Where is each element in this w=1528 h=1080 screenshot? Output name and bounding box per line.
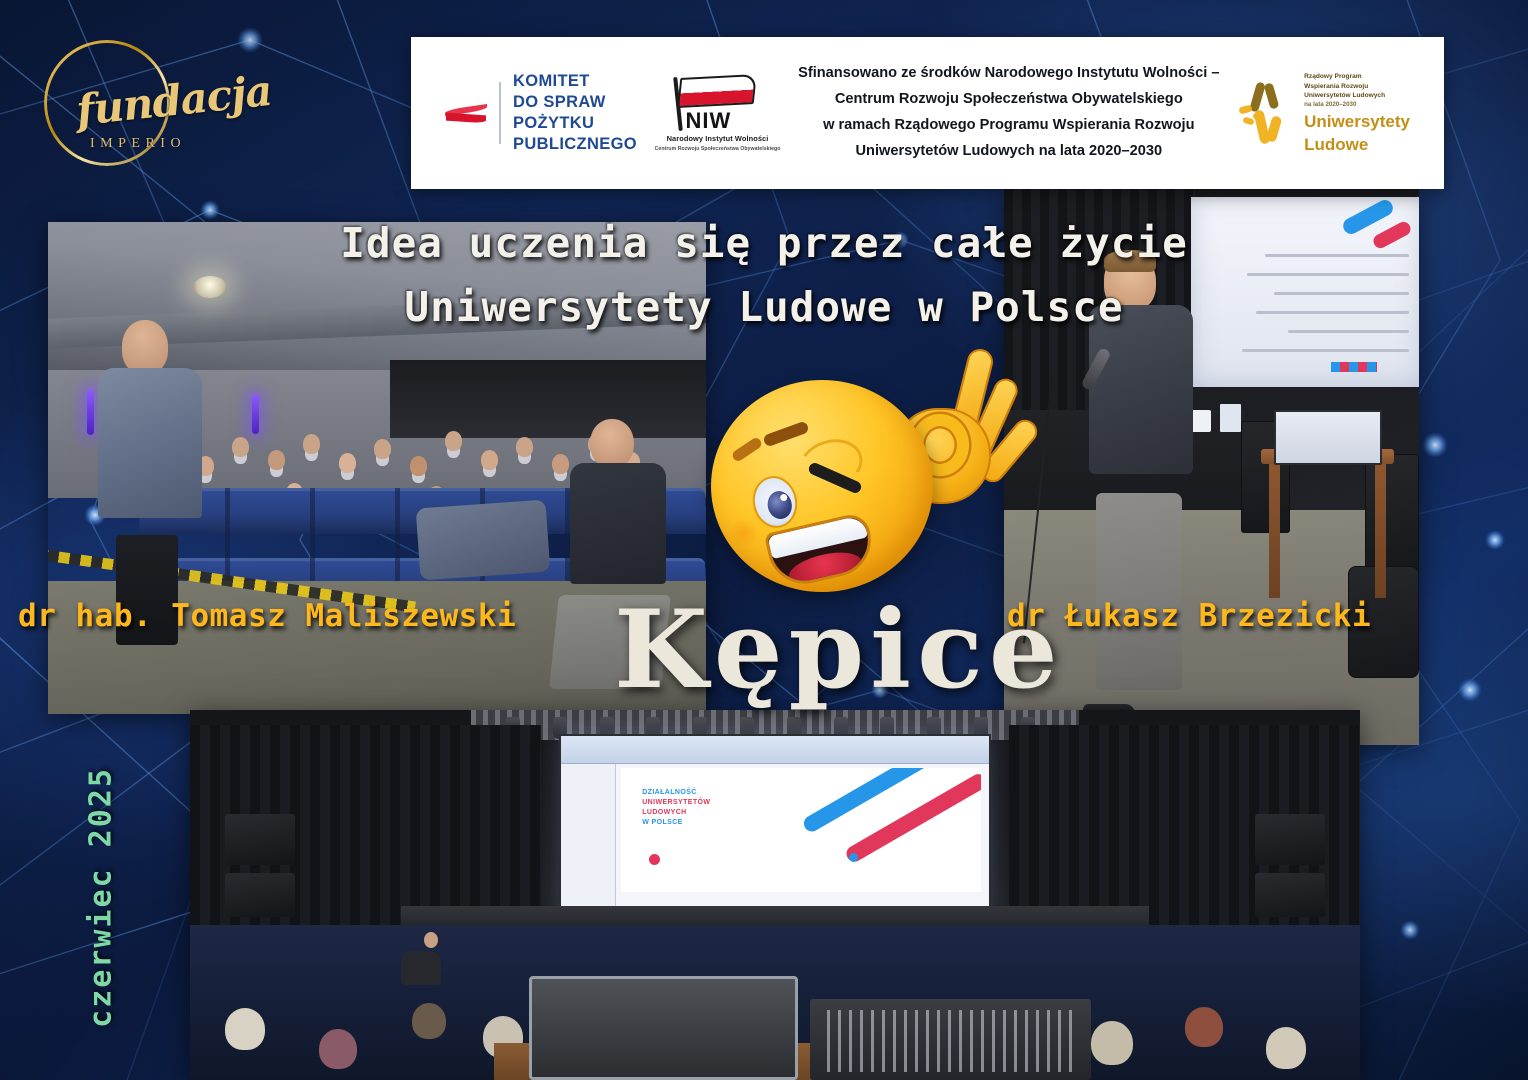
kpp-wordmark: KOMITET DO SPRAW POŻYTKU PUBLICZNEGO bbox=[513, 71, 637, 155]
ul-big2: Ludowe bbox=[1304, 135, 1410, 154]
logo-uniwersytety-ludowe: Rządowy Program Wspierania Rozwoju Uniwe… bbox=[1237, 72, 1410, 153]
caption-speaker-left: dr hab. Tomasz Maliszewski bbox=[18, 598, 516, 634]
niw-subtitle-2: Centrum Rozwoju Społeczeństwa Obywatelsk… bbox=[655, 146, 781, 152]
slide-title-line1: DZIAŁALNOŚĆ bbox=[642, 788, 710, 798]
eyebrow bbox=[731, 436, 764, 463]
slide-red-shape bbox=[1371, 219, 1413, 250]
photo-right-scene bbox=[1004, 186, 1419, 745]
kpp-line3: POŻYTKU bbox=[513, 113, 637, 134]
funding-line4: Uniwersytetów Ludowych na lata 2020–2030 bbox=[798, 139, 1219, 165]
presentation-screen: DZIAŁALNOŚĆ UNIWERSYTETÓW LUDOWYCH W POL… bbox=[559, 734, 992, 915]
ul-top3: Uniwersytetów Ludowych bbox=[1304, 91, 1410, 100]
slide-red-dot bbox=[649, 854, 660, 865]
smiley-face bbox=[711, 380, 933, 592]
poster-canvas: fundacja IMPERIO bbox=[0, 0, 1528, 1080]
cheek-blush bbox=[725, 520, 761, 546]
pa-speaker-box bbox=[1255, 814, 1325, 866]
polish-flag-icon bbox=[445, 98, 487, 128]
photo-left-scene bbox=[48, 222, 706, 714]
eyebrow bbox=[762, 420, 809, 447]
logo-komitet-pozytku-publicznego: KOMITET DO SPRAW POŻYTKU PUBLICZNEGO bbox=[445, 71, 637, 155]
ul-big1: Uniwersytety bbox=[1304, 112, 1410, 131]
imperio-subtitle: IMPERIO bbox=[90, 136, 186, 152]
kpp-line1: KOMITET bbox=[513, 71, 637, 92]
flight-case bbox=[529, 976, 798, 1080]
photo-speaker-with-microphone bbox=[1004, 186, 1419, 745]
speaker-figure bbox=[1087, 253, 1195, 723]
ul-emblem-icon bbox=[1237, 82, 1295, 144]
photo-auditorium-audience bbox=[48, 222, 706, 714]
place-title-kepice: Kępice bbox=[614, 596, 1064, 704]
wooden-table bbox=[1261, 449, 1394, 583]
event-date-vertical: czerwiec 2025 bbox=[84, 753, 119, 1043]
standing-speaker-figure bbox=[94, 320, 212, 645]
ul-top2: Wspierania Rozwoju bbox=[1304, 82, 1410, 91]
slide-dot-row bbox=[1331, 362, 1377, 372]
powerpoint-slide-rail bbox=[561, 764, 617, 913]
open-eye bbox=[748, 472, 802, 532]
funding-line3: w ramach Rządowego Programu Wspierania R… bbox=[798, 113, 1219, 139]
winking-smiley-ok-gesture-icon bbox=[697, 352, 1037, 602]
funding-statement: Sfinansowano ze środków Narodowego Insty… bbox=[798, 61, 1219, 165]
funding-line1: Sfinansowano ze środków Narodowego Insty… bbox=[798, 61, 1219, 87]
funding-logos-banner: KOMITET DO SPRAW POŻYTKU PUBLICZNEGO NIW… bbox=[411, 37, 1444, 189]
pa-speaker-box bbox=[225, 873, 295, 917]
projection-screen bbox=[1191, 197, 1419, 387]
photo-hall-stage-overview: DZIAŁALNOŚĆ UNIWERSYTETÓW LUDOWYCH W POL… bbox=[190, 710, 1360, 1080]
laptop bbox=[1274, 410, 1382, 466]
audio-mixer bbox=[810, 999, 1091, 1080]
water-glasses bbox=[1220, 404, 1241, 432]
tongue bbox=[786, 547, 865, 591]
ul-years: na lata 2020–2030 bbox=[1304, 101, 1410, 108]
ceiling-lamp-icon bbox=[193, 276, 227, 298]
current-slide: DZIAŁALNOŚĆ UNIWERSYTETÓW LUDOWYCH W POL… bbox=[621, 768, 981, 892]
logo-niw: NIW Narodowy Instytut Wolności Centrum R… bbox=[655, 75, 781, 152]
niw-subtitle-1: Narodowy Instytut Wolności bbox=[667, 134, 769, 143]
presenter-on-stage bbox=[424, 932, 438, 948]
powerpoint-toolbar bbox=[561, 736, 990, 764]
ul-wordmark: Rządowy Program Wspierania Rozwoju Uniwe… bbox=[1304, 72, 1410, 153]
photo-bottom-scene: DZIAŁALNOŚĆ UNIWERSYTETÓW LUDOWYCH W POL… bbox=[190, 710, 1360, 1080]
pupil bbox=[765, 489, 794, 521]
kpp-line4: PUBLICZNEGO bbox=[513, 134, 637, 155]
presenter-body bbox=[401, 951, 441, 985]
coat-on-seat bbox=[416, 500, 551, 581]
pa-speaker-box bbox=[225, 814, 295, 866]
niw-flag-icon: NIW bbox=[670, 75, 766, 131]
pa-speaker-box bbox=[1255, 873, 1325, 917]
slide-title-line3: LUDOWYCH bbox=[642, 808, 710, 818]
mixer-faders bbox=[827, 1010, 1074, 1072]
funding-line2: Centrum Rozwoju Społeczeństwa Obywatelsk… bbox=[798, 87, 1219, 113]
slide-title-line2: UNIWERSYTETÓW bbox=[642, 798, 710, 808]
niw-acronym: NIW bbox=[686, 108, 732, 134]
slide-title-line4: W POLSCE bbox=[642, 818, 710, 828]
fundacja-imperio-logo: fundacja IMPERIO bbox=[28, 36, 216, 172]
kpp-line2: DO SPRAW bbox=[513, 92, 637, 113]
slide-title-block: DZIAŁALNOŚĆ UNIWERSYTETÓW LUDOWYCH W POL… bbox=[642, 788, 710, 829]
ul-top1: Rządowy Program bbox=[1304, 72, 1410, 81]
divider bbox=[499, 82, 501, 144]
